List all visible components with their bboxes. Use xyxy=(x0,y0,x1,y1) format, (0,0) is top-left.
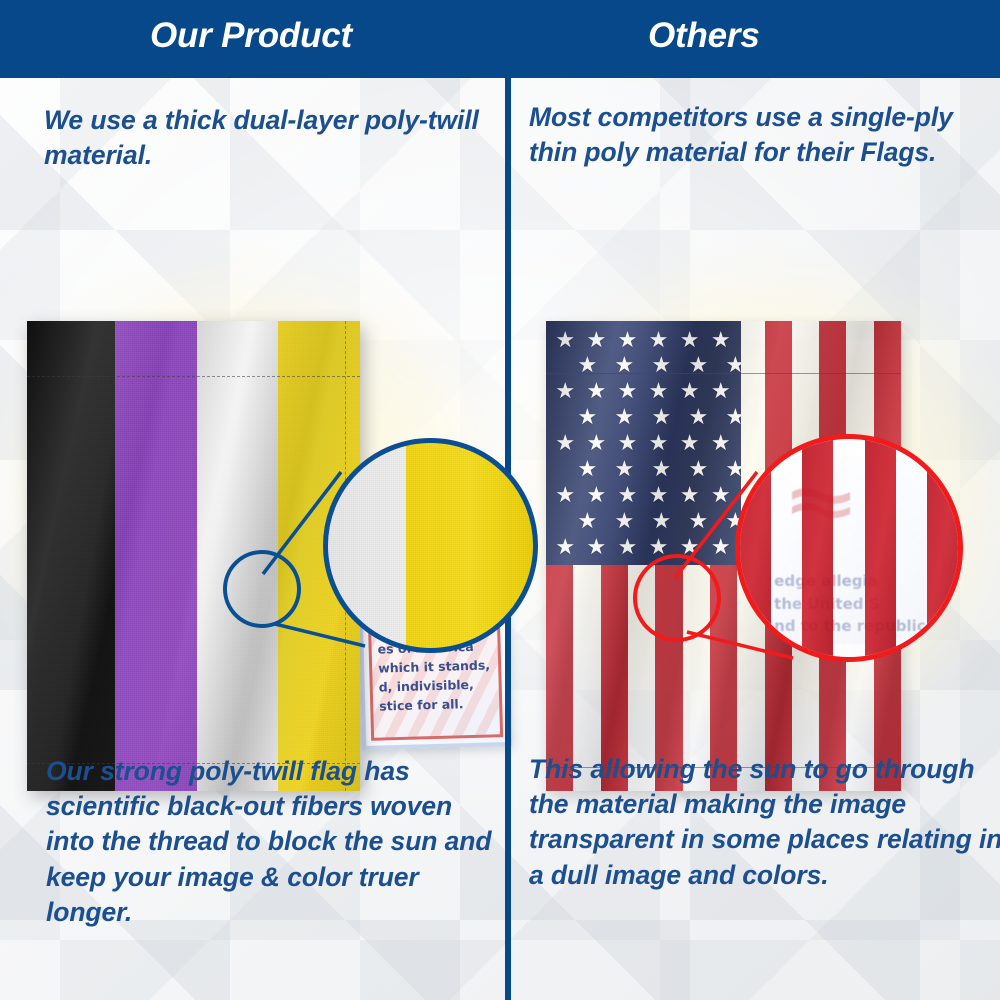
star-icon: ★ xyxy=(586,432,606,454)
flag-stripe-purple xyxy=(115,321,197,791)
star-icon: ★ xyxy=(555,380,575,402)
star-icon: ★ xyxy=(578,510,598,532)
star-icon: ★ xyxy=(618,536,638,558)
star-icon: ★ xyxy=(555,329,575,351)
star-icon: ★ xyxy=(555,432,575,454)
header-bar: Our Product Others xyxy=(0,0,1000,78)
star-icon: ★ xyxy=(586,380,606,402)
star-icon: ★ xyxy=(555,536,575,558)
star-icon: ★ xyxy=(578,406,598,428)
star-icon: ★ xyxy=(618,484,638,506)
star-icon: ★ xyxy=(586,484,606,506)
us-flag-stitch-top xyxy=(546,373,901,374)
star-icon: ★ xyxy=(649,329,669,351)
others-top-description: Most competitors use a single-ply thin p… xyxy=(529,100,999,170)
magnifier-source-ring-right xyxy=(633,554,721,642)
star-icon: ★ xyxy=(555,484,575,506)
header-title-our-product: Our Product xyxy=(150,16,352,56)
star-icon: ★ xyxy=(578,458,598,480)
star-icon: ★ xyxy=(725,406,741,428)
star-icon: ★ xyxy=(615,458,635,480)
star-icon: ★ xyxy=(618,432,638,454)
star-icon: ★ xyxy=(618,329,638,351)
flag-stripe-black xyxy=(27,321,115,791)
column-others: Most competitors use a single-ply thin p… xyxy=(511,78,1000,1000)
star-icon: ★ xyxy=(615,510,635,532)
magnified-us-stripes xyxy=(740,439,958,657)
star-icon: ★ xyxy=(586,536,606,558)
star-icon: ★ xyxy=(688,406,708,428)
our-product-bottom-description: Our strong poly-twill flag has scientifi… xyxy=(46,754,496,930)
others-bottom-description: This allowing the sun to go through the … xyxy=(529,752,1000,893)
magnifier-callout-others: edge allegia the United S nd to the repu… xyxy=(661,426,981,736)
magnifier-zoom-lens-transparent: edge allegia the United S nd to the repu… xyxy=(735,434,963,662)
flag-stitch-top xyxy=(27,376,360,377)
header-title-others: Others xyxy=(648,16,760,56)
our-product-top-description: We use a thick dual-layer poly-twill mat… xyxy=(44,103,484,173)
star-icon: ★ xyxy=(649,380,669,402)
magnifier-callout-our-product xyxy=(245,428,545,728)
star-icon: ★ xyxy=(711,380,731,402)
star-icon: ★ xyxy=(711,329,731,351)
magnifier-source-ring xyxy=(223,550,301,628)
star-icon: ★ xyxy=(680,329,700,351)
magnifier-zoom-lens-opaque xyxy=(323,438,538,653)
star-icon: ★ xyxy=(618,380,638,402)
star-icon: ★ xyxy=(586,329,606,351)
star-icon: ★ xyxy=(680,380,700,402)
others-flag-stage: ...ance to the flag es of America which … xyxy=(511,228,1000,738)
our-product-flag-stage: ...ance to the flag es of America which … xyxy=(0,228,505,738)
column-our-product: We use a thick dual-layer poly-twill mat… xyxy=(0,78,505,1000)
infographic-root: Our Product Others We use a thick dual-l… xyxy=(0,0,1000,1000)
star-icon: ★ xyxy=(652,406,672,428)
star-icon: ★ xyxy=(615,406,635,428)
